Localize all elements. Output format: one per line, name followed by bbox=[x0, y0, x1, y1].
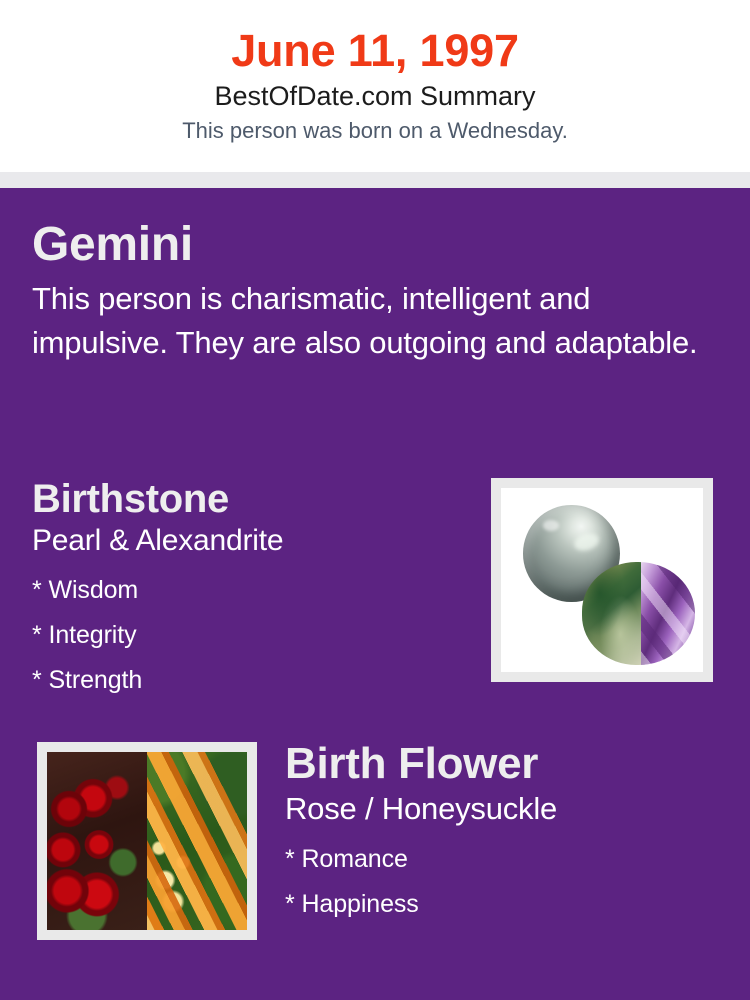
birth-flower-photo-card bbox=[37, 742, 257, 940]
alexandrite-gem-shape bbox=[582, 562, 695, 665]
birthstone-names: Pearl & Alexandrite bbox=[32, 523, 472, 560]
alexandrite-rough-half bbox=[582, 562, 641, 665]
birth-flower-photo bbox=[47, 752, 247, 930]
birthstone-photo bbox=[501, 488, 703, 672]
honeysuckle-image-half bbox=[147, 752, 247, 930]
birth-flower-trait-list: * Romance * Happiness bbox=[285, 837, 715, 927]
list-item: * Wisdom bbox=[32, 568, 472, 613]
content-panel: Gemini This person is charismatic, intel… bbox=[0, 188, 750, 1000]
birth-day-of-week-note: This person was born on a Wednesday. bbox=[0, 118, 750, 144]
zodiac-sign-title: Gemini bbox=[32, 220, 712, 270]
list-item: * Romance bbox=[285, 837, 715, 882]
birth-flower-names: Rose / Honeysuckle bbox=[285, 790, 715, 828]
birthday-summary-page: June 11, 1997 BestOfDate.com Summary Thi… bbox=[0, 0, 750, 1000]
page-header: June 11, 1997 BestOfDate.com Summary Thi… bbox=[0, 0, 750, 172]
zodiac-description: This person is charismatic, intelligent … bbox=[32, 277, 712, 365]
list-item: * Happiness bbox=[285, 882, 715, 927]
birth-flower-section: Birth Flower Rose / Honeysuckle * Romanc… bbox=[285, 740, 715, 927]
birth-flower-title: Birth Flower bbox=[285, 740, 715, 788]
page-title-date: June 11, 1997 bbox=[0, 26, 750, 76]
list-item: * Strength bbox=[32, 658, 472, 703]
birthstone-photo-card bbox=[491, 478, 713, 682]
birthstone-title: Birthstone bbox=[32, 478, 472, 521]
header-divider bbox=[0, 172, 750, 188]
alexandrite-faceted-half bbox=[641, 562, 695, 665]
site-summary-label: BestOfDate.com Summary bbox=[0, 81, 750, 113]
zodiac-section: Gemini This person is charismatic, intel… bbox=[32, 220, 712, 365]
birthstone-section: Birthstone Pearl & Alexandrite * Wisdom … bbox=[32, 478, 472, 703]
list-item: * Integrity bbox=[32, 613, 472, 658]
birthstone-trait-list: * Wisdom * Integrity * Strength bbox=[32, 568, 472, 703]
red-roses-image-half bbox=[47, 752, 147, 930]
